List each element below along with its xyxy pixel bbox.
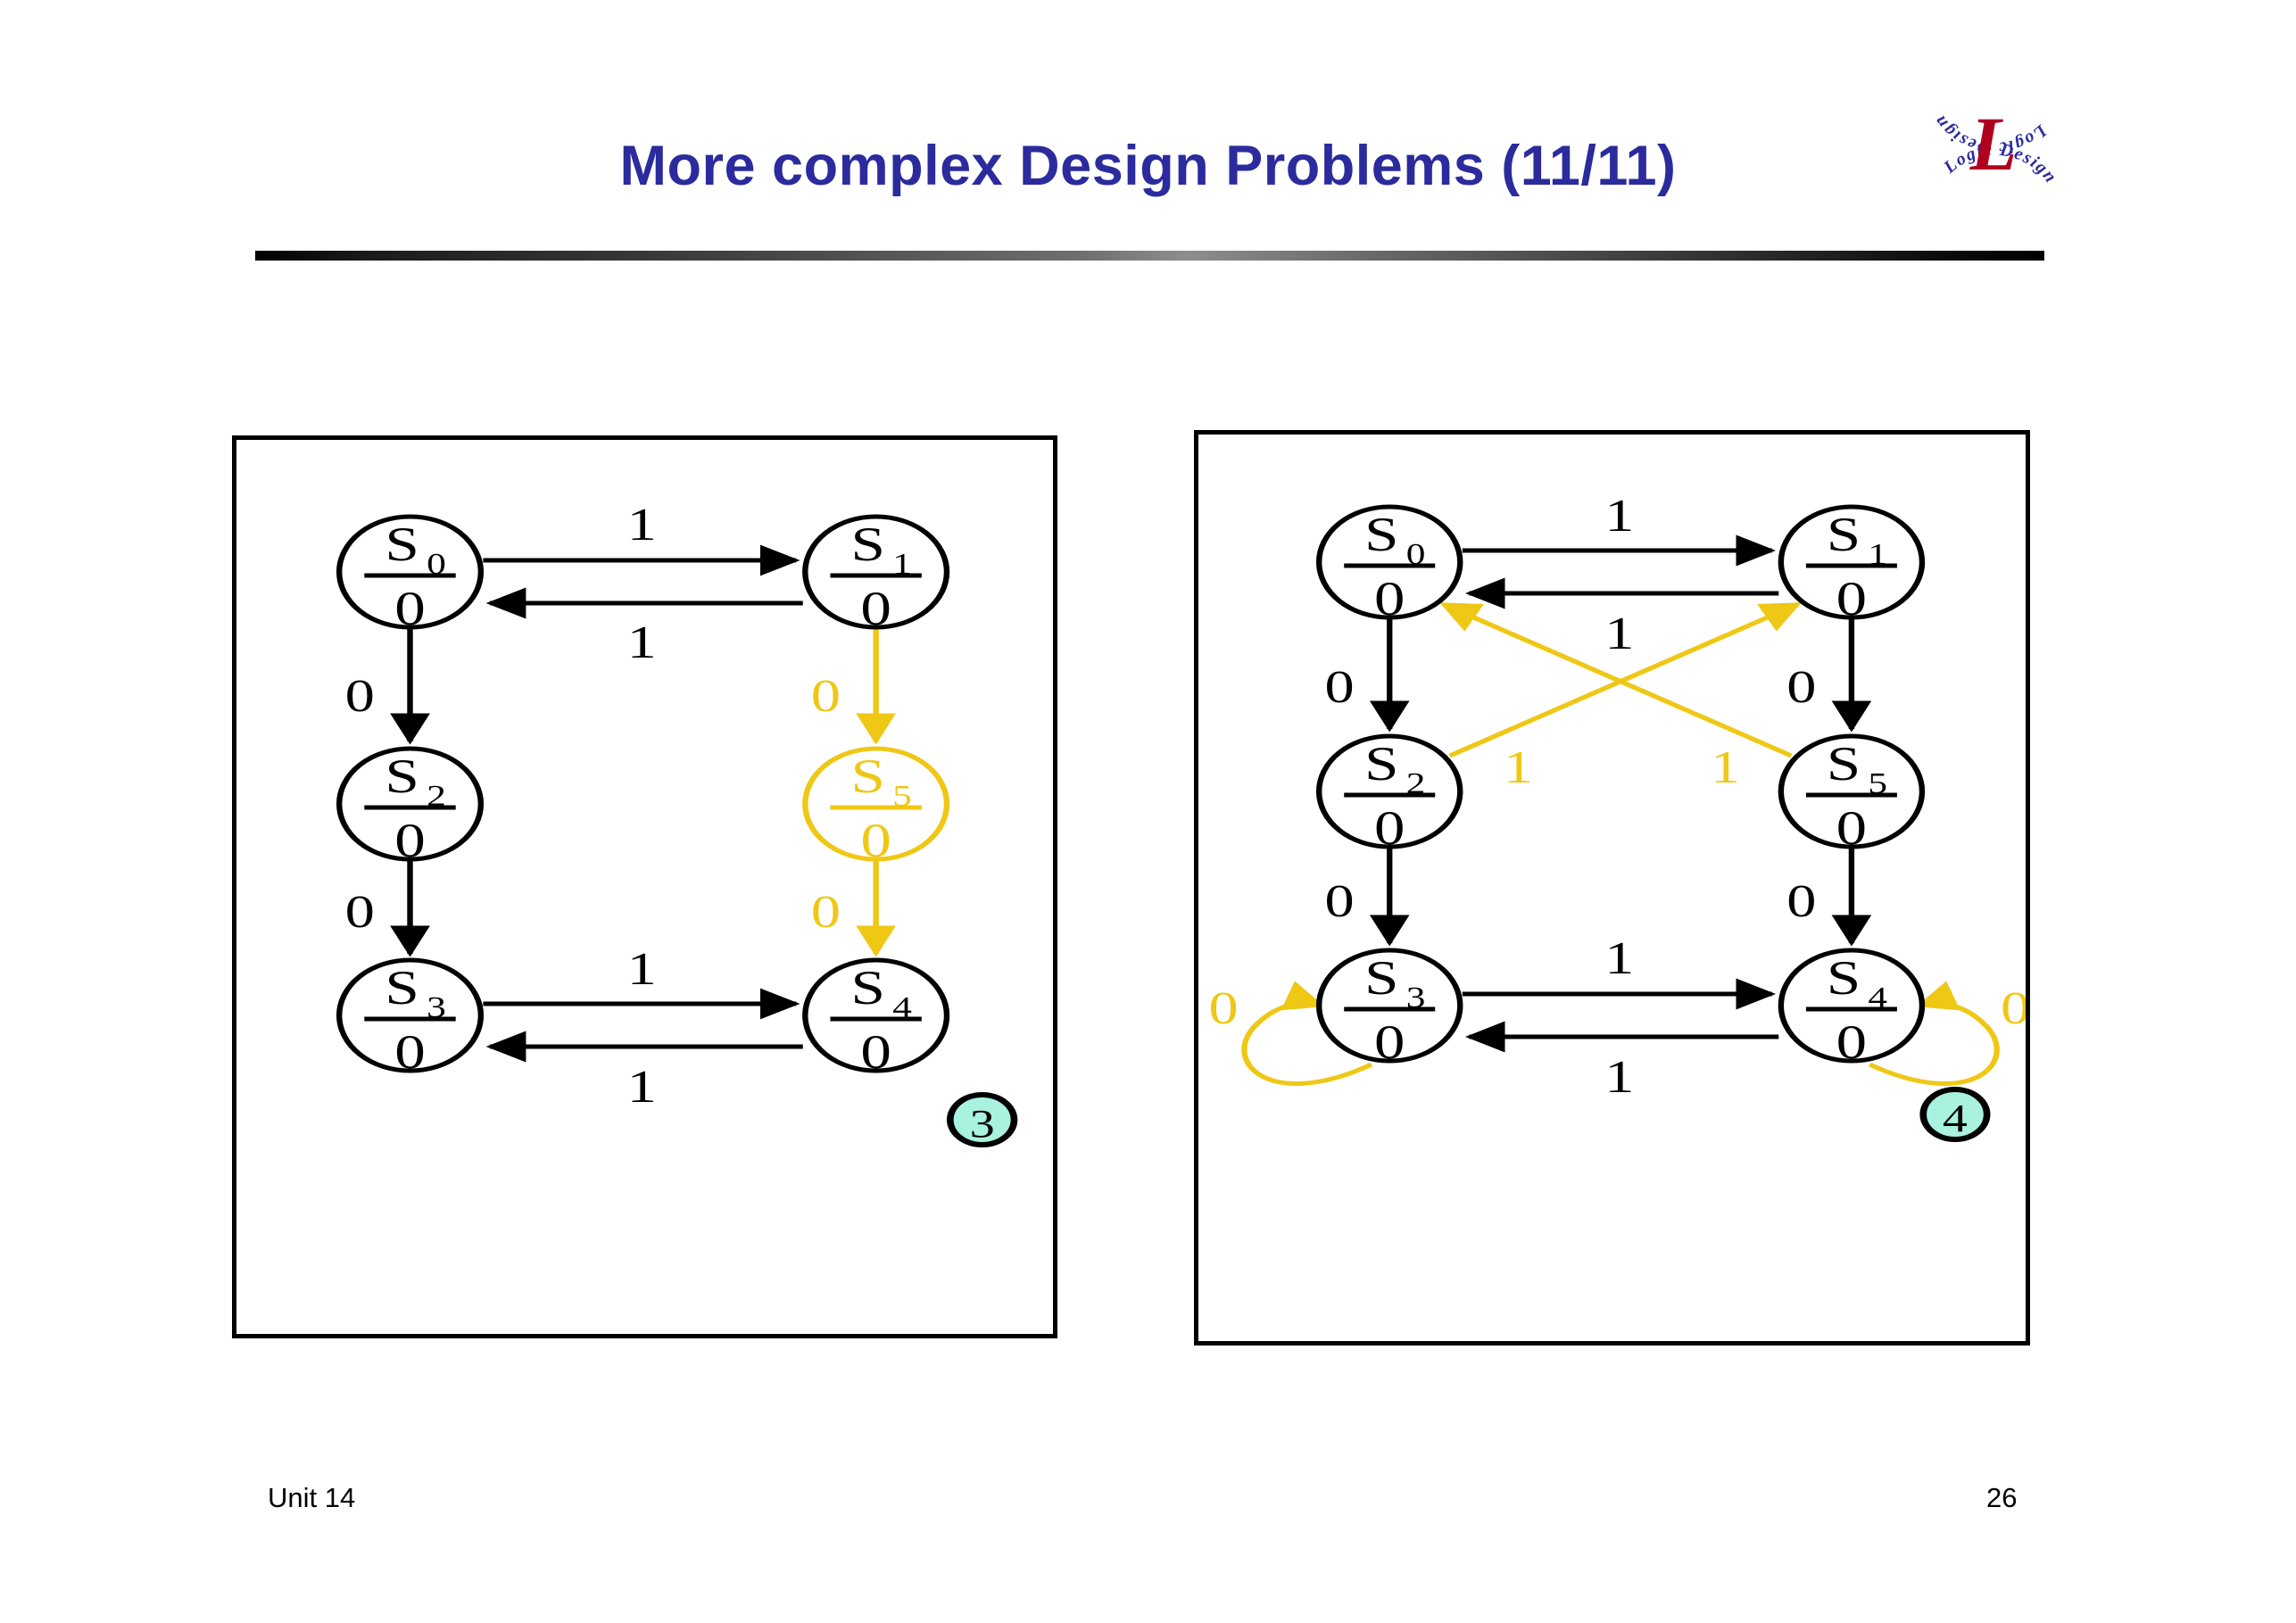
edge-label-s5-s4: 0 [1786, 875, 1816, 927]
state-node-s0[interactable]: S 0 0 [339, 517, 481, 635]
diagram-badge-3-label: 3 [970, 1102, 995, 1146]
edge-label-s4-s3: 1 [627, 1061, 657, 1112]
edge-label-s1-s0: 1 [627, 617, 657, 667]
edge-label-s2-s3: 0 [1325, 875, 1355, 927]
edge-label-s0-s1: 1 [627, 499, 657, 550]
edge-s0-s2: 0 [1325, 619, 1390, 729]
state-node-s4[interactable]: S 4 0 [805, 960, 947, 1079]
state-node-s0-output: 0 [394, 583, 426, 635]
edge-label-s0-s1: 1 [1604, 490, 1634, 542]
edge-s1-s5: 0 [1786, 619, 1852, 729]
edge-s5-s4: 0 [811, 861, 876, 954]
state-node-s1-name: S [850, 518, 884, 571]
state-node-s4-output: 0 [1836, 1016, 1867, 1069]
edge-label-s4-self: 0 [2001, 982, 2026, 1034]
state-node-s3-output: 0 [1374, 1016, 1405, 1069]
state-node-s5-output: 0 [860, 815, 891, 867]
state-node-s0[interactable]: S 0 0 [1319, 507, 1460, 625]
edge-label-s3-s4: 1 [1604, 932, 1634, 984]
logo-svg: Logic Design Logic Design L [1915, 73, 2076, 225]
edge-s3-s4: 1 [483, 943, 796, 1004]
state-node-s2-output: 0 [394, 815, 426, 867]
state-diagram-4-svg: 1 1 0 0 0 0 1 1 [1198, 435, 2026, 1341]
diagram-badge-4: 4 [1923, 1089, 1986, 1140]
edge-label-s4-s3: 1 [1604, 1051, 1634, 1103]
edge-label-s5-s4: 0 [811, 886, 841, 937]
state-node-s2[interactable]: S 2 0 [339, 749, 481, 867]
state-node-s2-name: S [1364, 738, 1398, 791]
state-node-s0-name: S [385, 518, 419, 571]
state-node-s0-output: 0 [1374, 573, 1405, 625]
state-node-s2[interactable]: S 2 0 [1319, 736, 1460, 855]
state-node-s3-output: 0 [394, 1026, 426, 1079]
edge-label-s1-s0: 1 [1604, 608, 1634, 659]
state-node-s3-name: S [1364, 952, 1398, 1005]
edge-s3-s4: 1 [1463, 932, 1772, 994]
state-node-s3-name: S [385, 962, 419, 1014]
state-node-s1-output: 0 [860, 583, 891, 635]
footer-unit-label: Unit 14 [268, 1482, 355, 1514]
state-diagram-4-panel: 1 1 0 0 0 0 1 1 [1194, 430, 2030, 1346]
state-node-s4-output: 0 [860, 1026, 891, 1079]
edge-s5-s4: 0 [1786, 849, 1852, 943]
state-node-s1-output: 0 [1836, 573, 1867, 625]
state-node-s4-name: S [1827, 952, 1861, 1005]
state-node-s1[interactable]: S 1 0 [805, 517, 947, 635]
edge-s1-s5: 0 [811, 629, 876, 741]
state-node-s5-name: S [850, 750, 884, 803]
edge-s4-s3: 1 [490, 1047, 803, 1112]
title-divider [255, 251, 2044, 261]
state-node-s1[interactable]: S 1 0 [1781, 507, 1922, 625]
edge-s2-s3: 0 [1325, 849, 1390, 943]
diagram-badge-4-label: 4 [1943, 1097, 1968, 1140]
edge-label-s3-self: 0 [1208, 982, 1238, 1034]
edge-s0-s2: 0 [345, 629, 410, 741]
state-node-s0-name: S [1364, 509, 1398, 561]
state-node-s5[interactable]: S 5 0 [1781, 736, 1922, 855]
edge-label-s1-s5: 0 [1786, 661, 1816, 713]
state-diagram-3-panel: 1 1 0 0 0 0 1 [232, 435, 1057, 1338]
state-node-s5[interactable]: S 5 0 [805, 749, 947, 867]
edge-s0-s1: 1 [483, 499, 796, 560]
state-node-s2-name: S [385, 750, 419, 803]
logic-design-logo: Logic Design Logic Design L [1915, 73, 2076, 225]
edge-label-s3-s4: 1 [627, 943, 657, 994]
edge-label-s2-s3: 0 [345, 886, 375, 937]
edge-label-s5-s0: 1 [1504, 741, 1533, 793]
state-node-s3[interactable]: S 3 0 [339, 960, 481, 1079]
edge-s2-s3: 0 [345, 861, 410, 954]
edge-s1-s0: 1 [490, 603, 803, 667]
edge-label-s1-s5: 0 [811, 670, 841, 721]
edge-label-s2-s1: 1 [1711, 741, 1740, 793]
state-node-s2-output: 0 [1374, 802, 1405, 855]
edge-label-s0-s2: 0 [345, 670, 375, 721]
footer-page-number: 26 [1986, 1482, 2017, 1514]
edge-s4-s3: 1 [1469, 1037, 1778, 1102]
state-node-s1-name: S [1827, 509, 1861, 561]
state-node-s4[interactable]: S 4 0 [1781, 950, 1922, 1069]
state-node-s5-output: 0 [1836, 802, 1867, 855]
diagram-badge-3: 3 [950, 1095, 1015, 1146]
edge-s1-s0: 1 [1469, 593, 1778, 658]
edge-label-s0-s2: 0 [1325, 661, 1355, 713]
state-node-s3[interactable]: S 3 0 [1319, 950, 1460, 1069]
state-node-s4-name: S [850, 962, 884, 1014]
state-diagram-3-svg: 1 1 0 0 0 0 1 [236, 440, 1053, 1334]
edge-s0-s1: 1 [1463, 490, 1772, 551]
state-node-s5-name: S [1827, 738, 1861, 791]
logo-center-letter: L [1969, 101, 2018, 186]
